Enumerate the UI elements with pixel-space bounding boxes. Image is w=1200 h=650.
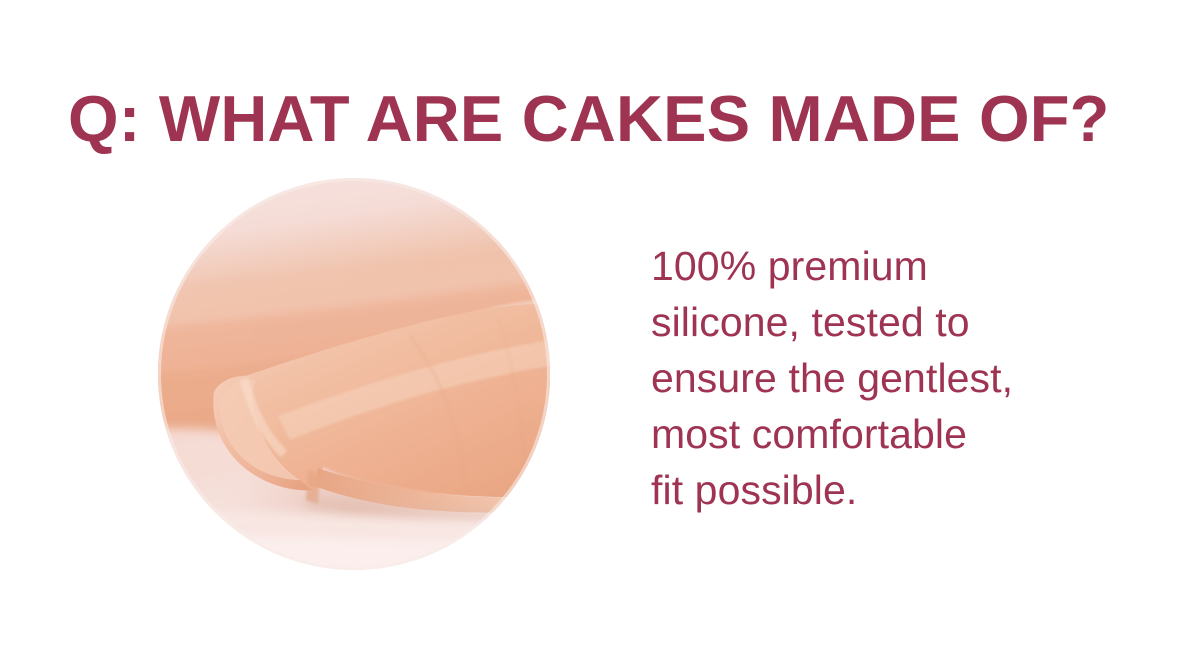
body-line: 100% premium bbox=[651, 238, 1071, 294]
body-line: most comfortable bbox=[651, 406, 1071, 462]
silicone-sheet-illustration bbox=[158, 178, 550, 570]
product-photo-circle bbox=[158, 178, 550, 570]
body-copy: 100% premium silicone, tested to ensure … bbox=[651, 238, 1071, 518]
body-line: silicone, tested to bbox=[651, 294, 1071, 350]
faq-card: Q: WHAT ARE CAKES MADE OF? bbox=[0, 0, 1200, 650]
page-title: Q: WHAT ARE CAKES MADE OF? bbox=[68, 86, 1148, 151]
body-line: ensure the gentlest, bbox=[651, 350, 1071, 406]
body-line: fit possible. bbox=[651, 462, 1071, 518]
